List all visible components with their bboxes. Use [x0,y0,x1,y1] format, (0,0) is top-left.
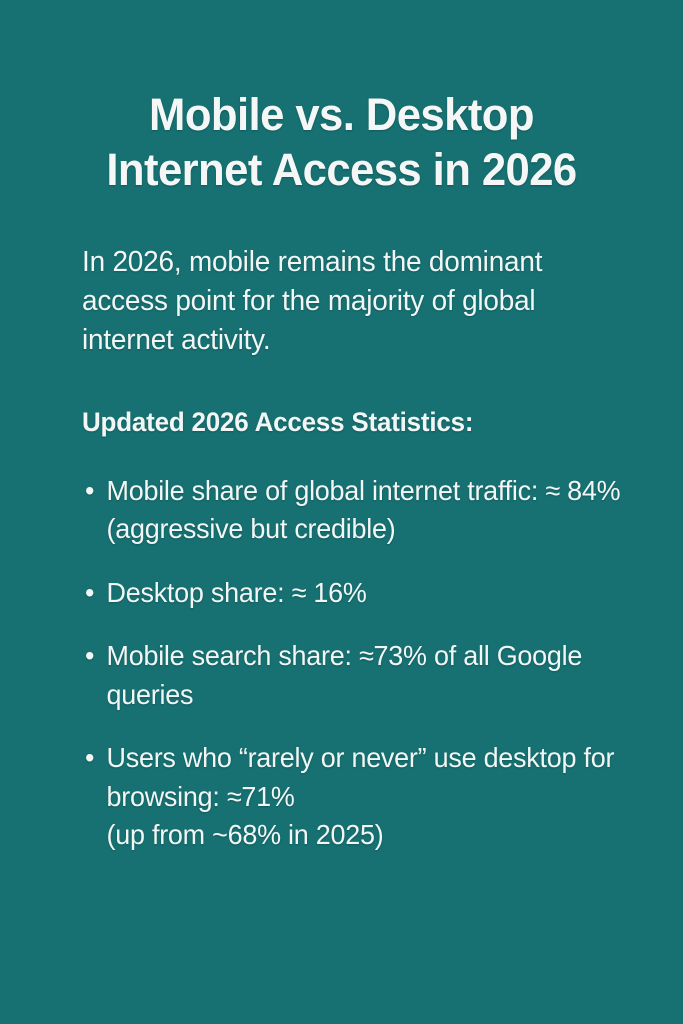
bullet-point-icon: • [85,574,99,613]
list-item-text: Mobile share of global internet traffic:… [107,472,627,549]
list-item-text: Desktop share: ≈ 16% [107,574,627,613]
page-title-line-1: Mobile vs. Desktop [51,88,632,143]
slide-canvas: Mobile vs. Desktop Internet Access in 20… [0,0,683,1024]
list-item: • Mobile share of global internet traffi… [82,472,627,549]
list-item-text: Mobile search share: ≈73% of all Google … [107,637,627,714]
statistics-bullet-list: • Mobile share of global internet traffi… [82,472,638,855]
list-item: • Mobile search share: ≈73% of all Googl… [82,637,627,714]
bullet-point-icon: • [85,739,99,778]
list-item: • Desktop share: ≈ 16% [82,574,627,613]
intro-paragraph: In 2026, mobile remains the dominant acc… [82,243,627,361]
list-item-text: Users who “rarely or never” use desktop … [107,739,627,855]
bullet-point-icon: • [85,472,99,511]
bullet-point-icon: • [85,637,99,676]
statistics-subheading: Updated 2026 Access Statistics: [82,405,627,439]
page-title-line-2: Internet Access in 2026 [51,143,632,198]
slide-body: In 2026, mobile remains the dominant acc… [82,214,638,855]
list-item: • Users who “rarely or never” use deskto… [82,739,627,855]
page-title: Mobile vs. Desktop Internet Access in 20… [10,88,673,198]
